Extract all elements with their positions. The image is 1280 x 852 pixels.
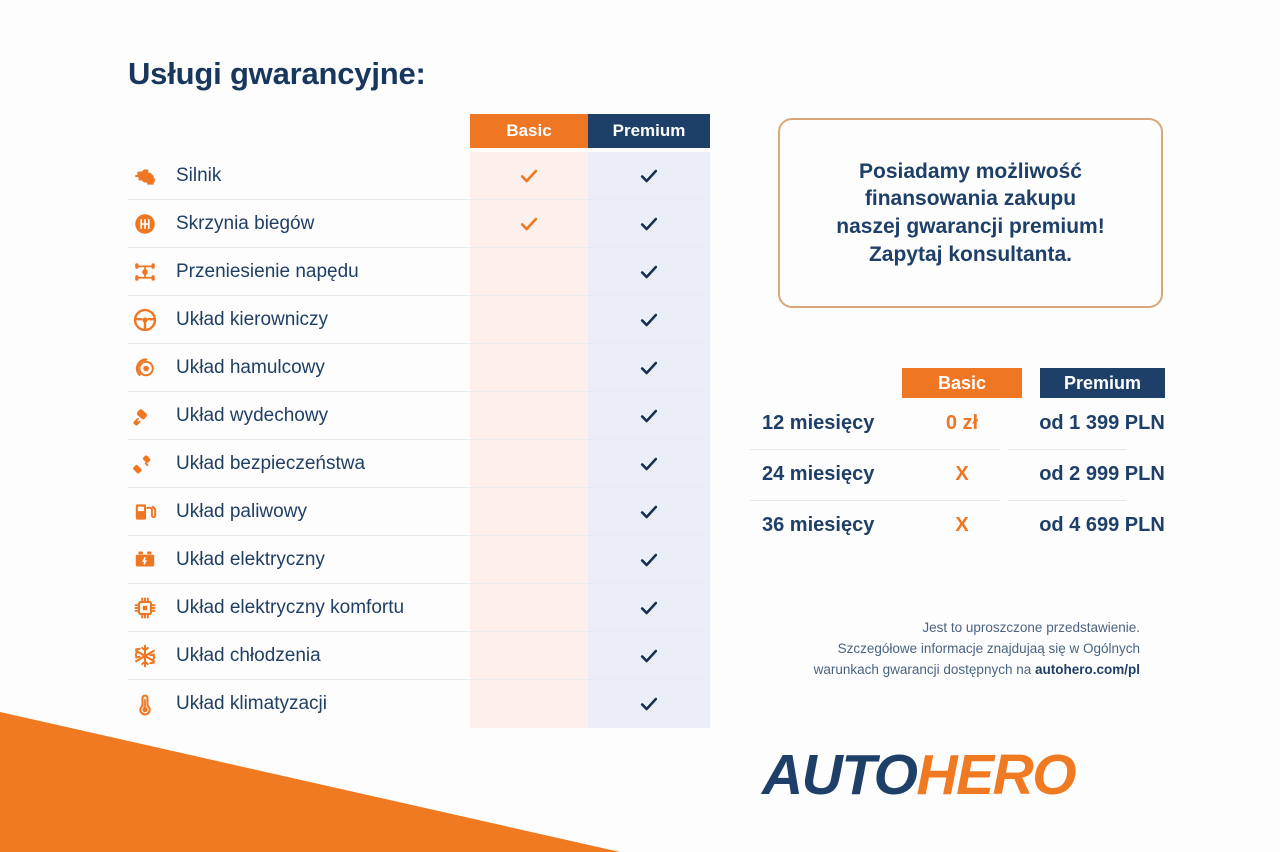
price-column-header-basic: Basic <box>902 368 1022 398</box>
logo-auto-text: AUTO <box>762 743 916 807</box>
feature-row: Układ elektryczny <box>128 536 710 584</box>
brake-disc-icon <box>128 355 162 381</box>
promo-line-2: finansowania zakupu <box>836 185 1104 213</box>
feature-label: Układ elektryczny <box>162 549 325 571</box>
feature-label: Silnik <box>162 165 221 187</box>
feature-check-premium <box>588 488 710 536</box>
column-header-basic: Basic <box>470 114 588 148</box>
feature-comparison-table: Basic Premium SilnikSkrzynia biegówPrzen… <box>128 114 710 728</box>
feature-label: Układ bezpieczeństwa <box>162 453 365 475</box>
exhaust-icon <box>128 403 162 429</box>
disclaimer-line-1: Jest to uproszczone przedstawienie. <box>740 618 1140 639</box>
feature-rows: SilnikSkrzynia biegówPrzeniesienie napęd… <box>128 114 710 728</box>
feature-check-basic <box>470 680 588 728</box>
seatbelt-icon <box>128 451 162 477</box>
feature-check-basic <box>470 584 588 632</box>
disclaimer-line-2: Szczegółowe informacje znajdujaą się w O… <box>740 639 1140 660</box>
chip-icon <box>128 595 162 621</box>
disclaimer-text: Jest to uproszczone przedstawienie. Szcz… <box>740 618 1180 681</box>
feature-label: Układ wydechowy <box>162 405 328 427</box>
feature-check-premium <box>588 200 710 248</box>
page-title: Usługi gwarancyjne: <box>128 56 728 92</box>
thermometer-icon <box>128 691 162 717</box>
price-column-header-premium: Premium <box>1040 368 1165 398</box>
feature-check-premium <box>588 392 710 440</box>
price-row-separator-right <box>1008 500 1126 501</box>
price-term-label: 12 miesięcy <box>762 412 874 435</box>
feature-row: Układ bezpieczeństwa <box>128 440 710 488</box>
feature-label: Przeniesienie napędu <box>162 261 359 283</box>
column-header-premium: Premium <box>588 114 710 148</box>
feature-check-premium <box>588 680 710 728</box>
feature-row: Układ paliwowy <box>128 488 710 536</box>
feature-label: Układ paliwowy <box>162 501 307 523</box>
price-table-header: Basic Premium <box>750 368 1180 398</box>
price-value-premium: od 1 399 PLN <box>1032 412 1172 435</box>
autohero-logo: AUTOHERO <box>762 742 1075 808</box>
price-term-label: 24 miesięcy <box>762 463 874 486</box>
logo-hero-text: HERO <box>916 743 1075 807</box>
feature-label: Układ hamulcowy <box>162 357 325 379</box>
promo-line-1: Posiadamy możliwość <box>836 158 1104 186</box>
feature-label: Układ klimatyzacji <box>162 693 327 715</box>
price-comparison-table: Basic Premium 12 miesięcy0 złod 1 399 PL… <box>750 368 1180 551</box>
disclaimer-line-3: warunkach gwarancji dostępnych na autohe… <box>740 660 1140 681</box>
feature-check-premium <box>588 632 710 680</box>
feature-check-basic <box>470 632 588 680</box>
feature-label: Układ elektryczny komfortu <box>162 597 404 619</box>
price-row-separator-right <box>1008 449 1126 450</box>
feature-row: Układ elektryczny komfortu <box>128 584 710 632</box>
slide-root: Usługi gwarancyjne: Basic Premium Silnik… <box>0 0 1280 852</box>
disclaimer-line-3-prefix: warunkach gwarancji dostępnych na <box>814 662 1035 677</box>
engine-icon <box>128 163 162 189</box>
price-row: 12 miesięcy0 złod 1 399 PLN <box>750 398 1180 449</box>
feature-check-premium <box>588 344 710 392</box>
feature-row: Układ klimatyzacji <box>128 680 710 728</box>
snowflake-icon <box>128 643 162 669</box>
feature-check-basic <box>470 344 588 392</box>
price-value-premium: od 4 699 PLN <box>1032 514 1172 537</box>
battery-icon <box>128 547 162 573</box>
feature-check-basic <box>470 392 588 440</box>
steering-wheel-icon <box>128 307 162 333</box>
feature-check-basic <box>470 488 588 536</box>
gearbox-icon <box>128 211 162 237</box>
promo-line-4: Zapytaj konsultanta. <box>836 241 1104 269</box>
fuel-pump-icon <box>128 499 162 525</box>
price-value-basic: X <box>902 514 1022 537</box>
price-row-separator-left <box>750 500 1000 501</box>
price-rows: 12 miesięcy0 złod 1 399 PLN24 miesięcyXo… <box>750 398 1180 551</box>
feature-check-basic <box>470 152 588 200</box>
feature-label: Układ chłodzenia <box>162 645 321 667</box>
autohero-website-link[interactable]: autohero.com/pl <box>1035 662 1140 677</box>
feature-row: Układ wydechowy <box>128 392 710 440</box>
warranty-services-panel: Usługi gwarancyjne: Basic Premium Silnik… <box>128 56 728 728</box>
feature-row: Układ hamulcowy <box>128 344 710 392</box>
feature-check-basic <box>470 200 588 248</box>
feature-row: Układ chłodzenia <box>128 632 710 680</box>
feature-row: Silnik <box>128 152 710 200</box>
price-row: 24 miesięcyXod 2 999 PLN <box>750 449 1180 500</box>
feature-check-basic <box>470 248 588 296</box>
financing-promo-box: Posiadamy możliwość finansowania zakupu … <box>778 118 1163 308</box>
feature-label: Skrzynia biegów <box>162 213 314 235</box>
promo-line-3: naszej gwarancji premium! <box>836 213 1104 241</box>
feature-check-basic <box>470 536 588 584</box>
price-row: 36 miesięcyXod 4 699 PLN <box>750 500 1180 551</box>
price-value-premium: od 2 999 PLN <box>1032 463 1172 486</box>
price-value-basic: X <box>902 463 1022 486</box>
feature-check-premium <box>588 152 710 200</box>
feature-check-premium <box>588 248 710 296</box>
feature-check-premium <box>588 296 710 344</box>
feature-check-basic <box>470 296 588 344</box>
price-row-separator-left <box>750 449 1000 450</box>
feature-row: Skrzynia biegów <box>128 200 710 248</box>
feature-label: Układ kierowniczy <box>162 309 328 331</box>
feature-check-premium <box>588 536 710 584</box>
financing-promo-text: Posiadamy możliwość finansowania zakupu … <box>836 158 1104 269</box>
feature-check-premium <box>588 440 710 488</box>
price-term-label: 36 miesięcy <box>762 514 874 537</box>
feature-check-premium <box>588 584 710 632</box>
feature-row: Przeniesienie napędu <box>128 248 710 296</box>
drivetrain-icon <box>128 259 162 285</box>
feature-row: Układ kierowniczy <box>128 296 710 344</box>
price-value-basic: 0 zł <box>902 412 1022 435</box>
feature-check-basic <box>470 440 588 488</box>
